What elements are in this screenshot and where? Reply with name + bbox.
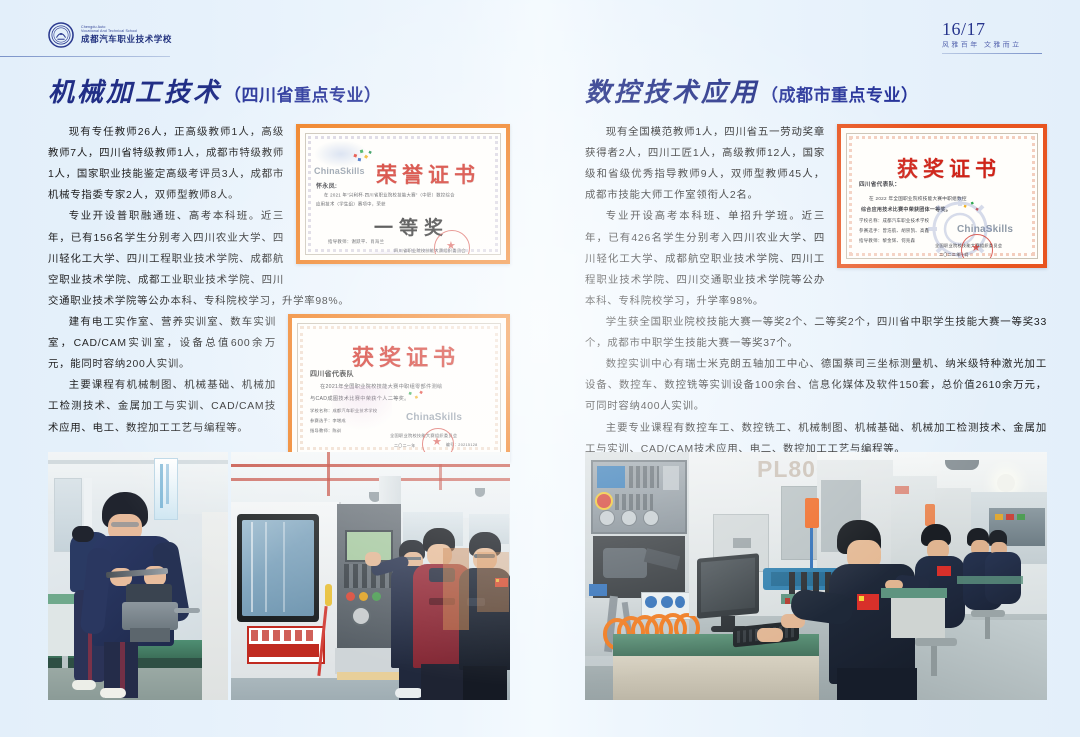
cert2-watermark-flourish bbox=[332, 386, 392, 444]
left-body-copy: ChinaSkills 荣誉证书 怀永凤: 在 2021 年"兴利杯·四川省职业… bbox=[48, 122, 510, 439]
right-paragraph-4: 数控实训中心有瑞士米克朗五轴加工中心、德国蔡司三坐标测量机、纳米级特种激光加工设… bbox=[585, 354, 1047, 417]
stamp-star-icon: ★ bbox=[971, 243, 982, 254]
stool-seat bbox=[915, 638, 957, 646]
cert3-recipient: 四川省代表队： bbox=[859, 180, 900, 191]
stool-leg bbox=[985, 617, 990, 639]
workbench-cabinet bbox=[613, 656, 819, 700]
cert1-official-stamp: ★ bbox=[434, 230, 470, 255]
worker-hand bbox=[757, 628, 783, 642]
brochure-page-spread: Chengdu Auto Vocational And Technical Sc… bbox=[0, 0, 1080, 737]
panel-button-green bbox=[372, 592, 381, 601]
cert3-official-stamp: ★ bbox=[961, 234, 993, 259]
photo-cnc-workshop-row: PL800 bbox=[585, 452, 1047, 700]
ceiling-lamp bbox=[945, 460, 979, 470]
right-paragraph-3: 学生获全国职业院校技能大赛一等奖2个、二等奖2个，四川省中职学生技能大赛一等奖3… bbox=[585, 312, 1047, 354]
monitor-stand bbox=[721, 616, 735, 626]
student-hand bbox=[365, 552, 381, 566]
panel-button-yellow bbox=[359, 592, 368, 601]
panel-dial bbox=[599, 510, 615, 526]
ceiling-pipe bbox=[231, 478, 510, 481]
cert1-body-line1: 在 2021 年"兴利杯·四川省职业院校技能大赛"（中职）数控综合 bbox=[324, 191, 455, 200]
cert2-footer-date: 二〇二一年 bbox=[394, 442, 416, 450]
header-rule-left bbox=[0, 56, 170, 57]
monitor-screen bbox=[701, 558, 755, 613]
right-title-main: 数控技术应用 bbox=[585, 72, 759, 109]
right-title-sub: （成都市重点专业） bbox=[761, 81, 919, 106]
cert2-title: 获奖证书 bbox=[352, 336, 460, 381]
blue-cable bbox=[810, 528, 813, 572]
chinese-flag-patch bbox=[937, 566, 951, 576]
school-name-chinese: 成都汽车职业技术学校 bbox=[81, 35, 172, 44]
folio-subtitle: 风雅百年 文雅而立 bbox=[942, 40, 1052, 49]
left-section-title: 机械加工技术 （四川省重点专业） bbox=[48, 72, 510, 108]
bench-surface bbox=[881, 588, 947, 598]
stamp-star-icon: ★ bbox=[432, 437, 443, 448]
cert3-info-line1: 学校名称：成都汽车职业技术学校 bbox=[859, 217, 929, 226]
left-title-sub: （四川省重点专业） bbox=[224, 81, 382, 106]
photo-student-filing-workbench bbox=[48, 452, 228, 700]
confetti-icon bbox=[406, 388, 428, 404]
folio: 16/17 风雅百年 文雅而立 bbox=[942, 20, 1052, 54]
school-logo-icon bbox=[48, 22, 74, 48]
cert2-recipient: 四川省代表队 bbox=[310, 368, 354, 382]
school-name-english: Chengdu Auto Vocational And Technical Sc… bbox=[81, 26, 172, 33]
panel-screen bbox=[597, 466, 625, 488]
cert1-brand-text: ChinaSkills bbox=[314, 166, 365, 176]
stool-seat bbox=[971, 610, 1005, 617]
panel-dial bbox=[643, 510, 659, 526]
machine-viewing-window bbox=[242, 520, 314, 616]
certificate-award-sichuan-team: 获奖证书 四川省代表队 在2021年全国职业院校技能大赛中职组零部件测绘 与CA… bbox=[288, 314, 510, 462]
panel-buttons bbox=[629, 466, 659, 488]
ceiling-pipe bbox=[231, 464, 510, 467]
warning-sign-band bbox=[249, 644, 319, 657]
info-label bbox=[589, 584, 607, 596]
safety-glasses bbox=[111, 522, 139, 527]
photo-students-at-cnc-machine bbox=[231, 452, 510, 700]
cert1-body-line2: 应用技术（学生组）赛项中，荣获 bbox=[316, 200, 386, 209]
certificate-honor-first-prize: ChinaSkills 荣誉证书 怀永凤: 在 2021 年"兴利杯·四川省职业… bbox=[296, 124, 510, 264]
machine-handle bbox=[325, 584, 332, 606]
panel-dial bbox=[351, 606, 371, 626]
right-column: 数控技术应用 （成都市重点专业） 获奖证书 四川省代表队： 在 2022 年全国… bbox=[585, 72, 1047, 460]
machine-model-label: PL800 bbox=[757, 456, 817, 482]
panel-button-red bbox=[346, 592, 355, 601]
left-column: 机械加工技术 （四川省重点专业） ChinaSk bbox=[48, 72, 510, 472]
emergency-stop-button bbox=[595, 492, 613, 510]
panel-dial bbox=[621, 510, 637, 526]
right-section-title: 数控技术应用 （成都市重点专业） bbox=[585, 72, 1047, 108]
student-shoe bbox=[395, 688, 423, 698]
school-brand: Chengdu Auto Vocational And Technical Sc… bbox=[48, 22, 172, 48]
page-header: Chengdu Auto Vocational And Technical Sc… bbox=[0, 0, 1080, 64]
cert2-brand-text: ChinaSkills bbox=[406, 412, 462, 423]
student-shoe bbox=[100, 688, 126, 698]
cert2-chinaskills-logo: ChinaSkills bbox=[406, 408, 462, 428]
bench-vise bbox=[122, 602, 178, 630]
header-rule-right bbox=[942, 53, 1042, 54]
cert3-title: 获奖证书 bbox=[897, 148, 1001, 191]
cert3-info-line2: 参赛选手：曾浩航、胡崇凯、高鑫 bbox=[859, 227, 929, 236]
cert2-official-stamp: ★ bbox=[422, 428, 454, 453]
ceiling-lamp bbox=[997, 474, 1015, 492]
certificate-award-national-first-prize: 获奖证书 四川省代表队： 在 2022 年全国职业院校技能大赛中职组数控 综合应… bbox=[837, 124, 1047, 268]
cert3-info-line3: 指导教师：黎金辉、何兆森 bbox=[859, 237, 915, 246]
right-body-copy: 获奖证书 四川省代表队： 在 2022 年全国职业院校技能大赛中职组数控 综合应… bbox=[585, 122, 1047, 460]
stool-leg bbox=[931, 646, 937, 676]
machine-orange-handle bbox=[805, 498, 819, 528]
stamp-star-icon: ★ bbox=[446, 241, 457, 252]
page-number: 16/17 bbox=[942, 20, 1052, 39]
left-title-main: 机械加工技术 bbox=[48, 72, 222, 109]
cert1-footer-left: 指导教师：谢跃平、肖海兰 bbox=[328, 238, 384, 247]
cert1-chinaskills-logo: ChinaSkills bbox=[314, 162, 365, 180]
